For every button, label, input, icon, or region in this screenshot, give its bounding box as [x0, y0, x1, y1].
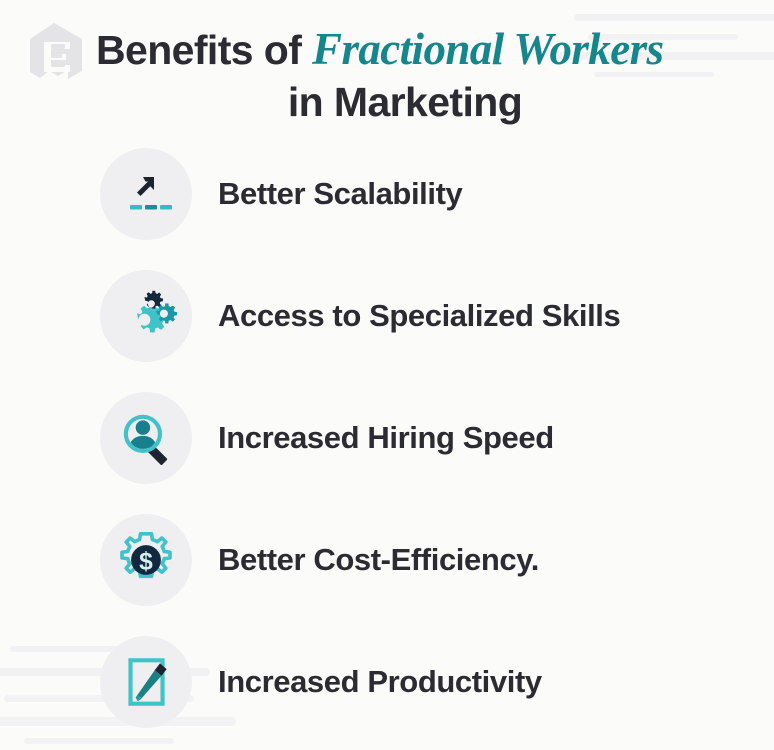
- title-prefix: Benefits of: [96, 27, 312, 73]
- benefit-label: Increased Productivity: [218, 664, 542, 700]
- benefit-item: Better Scalability: [0, 140, 774, 248]
- pencil-document-icon: [115, 651, 177, 713]
- svg-text:$: $: [139, 549, 153, 576]
- benefit-label: Access to Specialized Skills: [218, 298, 620, 334]
- title-line-2: in Marketing: [96, 77, 744, 127]
- benefit-icon-wrapper: [100, 148, 192, 240]
- benefit-label: Better Cost-Efficiency.: [218, 542, 539, 578]
- benefit-icon-wrapper: $: [100, 514, 192, 606]
- hexagon-e-logo: [18, 20, 90, 92]
- title-line-1: Benefits of Fractional Workers: [96, 22, 744, 77]
- benefit-icon-wrapper: [100, 392, 192, 484]
- benefit-item: $ Better Cost-Efficiency.: [0, 506, 774, 614]
- benefits-list: Better Scalability Ac: [0, 140, 774, 750]
- benefit-label: Increased Hiring Speed: [218, 420, 554, 456]
- person-magnifier-icon: [115, 407, 177, 469]
- benefit-item: Increased Hiring Speed: [0, 384, 774, 492]
- dollar-gear-icon: $: [114, 528, 178, 592]
- benefit-icon-wrapper: [100, 636, 192, 728]
- gears-icon: [114, 284, 178, 348]
- benefit-item: Access to Specialized Skills: [0, 262, 774, 370]
- benefit-icon-wrapper: [100, 270, 192, 362]
- benefit-item: Increased Productivity: [0, 628, 774, 736]
- decor-streak: [574, 14, 774, 21]
- arrow-up-right-trend-icon: [116, 164, 176, 224]
- page-header: Benefits of Fractional Workers in Market…: [96, 22, 744, 127]
- benefit-label: Better Scalability: [218, 176, 462, 212]
- title-accent: Fractional Workers: [312, 24, 663, 74]
